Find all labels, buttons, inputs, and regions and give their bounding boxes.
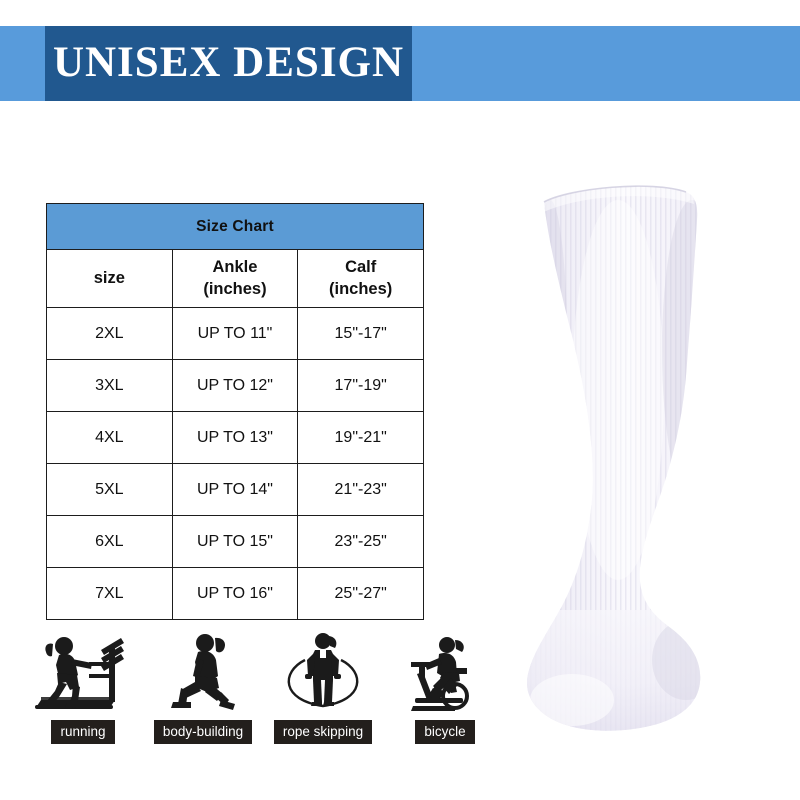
column-header-ankle: Ankle (inches) [172,250,298,308]
cell-calf: 17"-19" [298,360,424,412]
size-chart-header-row: size Ankle (inches) Calf (inches) [47,250,424,308]
cell-calf: 23"-25" [298,516,424,568]
cell-calf: 19"-21" [298,412,424,464]
size-chart-title: Size Chart [47,204,424,250]
cell-ankle: UP TO 16" [172,568,298,620]
cell-ankle: UP TO 13" [172,412,298,464]
column-header-calf-line2: (inches) [298,279,423,300]
cell-size: 2XL [47,308,173,360]
cell-size: 3XL [47,360,173,412]
size-chart-table: Size Chart size Ankle (inches) Calf (inc… [46,203,424,620]
cell-ankle: UP TO 14" [172,464,298,516]
table-row: 6XL UP TO 15" 23"-25" [47,516,424,568]
product-image-sock [500,140,800,780]
jump-rope-icon [264,626,382,716]
cell-size: 7XL [47,568,173,620]
table-row: 5XL UP TO 14" 21"-23" [47,464,424,516]
sock-body [500,140,800,780]
activity-label: body-building [154,720,252,745]
column-header-calf: Calf (inches) [298,250,424,308]
cell-size: 4XL [47,412,173,464]
activity-label: running [51,720,114,745]
lunge-body-building-icon [144,626,262,716]
exercise-bike-icon [386,626,504,716]
cell-size: 5XL [47,464,173,516]
column-header-ankle-line1: Ankle [173,257,298,278]
banner-title: UNISEX DESIGN [53,41,404,87]
activity-running: running [24,626,142,744]
cell-ankle: UP TO 15" [172,516,298,568]
table-row: 2XL UP TO 11" 15"-17" [47,308,424,360]
activity-bicycle: bicycle [386,626,504,744]
activity-label: rope skipping [274,720,372,745]
treadmill-running-icon [24,626,142,716]
cell-calf: 15"-17" [298,308,424,360]
activity-icon-row: running [24,626,490,744]
table-row: 4XL UP TO 13" 19"-21" [47,412,424,464]
activity-body-building: body-building [144,626,262,744]
banner-title-box: UNISEX DESIGN [45,26,412,101]
column-header-size: size [47,250,173,308]
cell-calf: 25"-27" [298,568,424,620]
size-chart-title-row: Size Chart [47,204,424,250]
size-chart: Size Chart size Ankle (inches) Calf (inc… [46,203,424,608]
cell-size: 6XL [47,516,173,568]
cell-ankle: UP TO 11" [172,308,298,360]
table-row: 3XL UP TO 12" 17"-19" [47,360,424,412]
activity-rope-skipping: rope skipping [264,626,382,744]
table-row: 7XL UP TO 16" 25"-27" [47,568,424,620]
cell-calf: 21"-23" [298,464,424,516]
column-header-calf-line1: Calf [298,257,423,278]
column-header-ankle-line2: (inches) [173,279,298,300]
column-header-size-line1: size [47,268,172,289]
cell-ankle: UP TO 12" [172,360,298,412]
activity-label: bicycle [415,720,474,745]
